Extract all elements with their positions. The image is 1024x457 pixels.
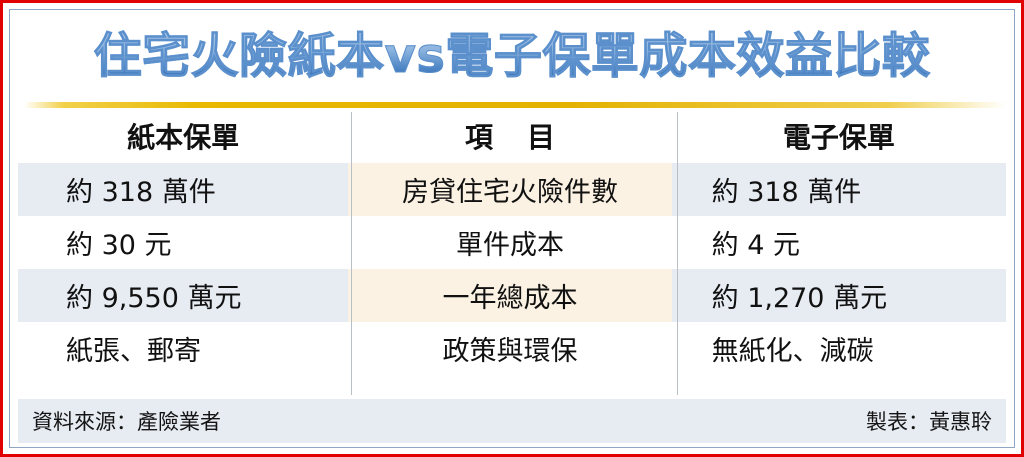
infographic-card: 住宅火險紙本vs電子保單成本效益比較 紙本保單 項 目 電子保單 約 318 萬…	[0, 0, 1024, 457]
header-cell-paper: 紙本保單	[18, 108, 348, 163]
table-header-row: 紙本保單 項 目 電子保單	[18, 108, 1006, 163]
header-cell-electronic: 電子保單	[672, 108, 1006, 163]
row1-cell-electronic: 約 4 元	[672, 216, 1006, 269]
title-area: 住宅火險紙本vs電子保單成本效益比較	[10, 10, 1014, 102]
header-cell-item: 項 目	[348, 108, 671, 163]
column-divider-right	[677, 112, 678, 395]
row1-cell-paper: 約 30 元	[18, 216, 348, 269]
source-label: 資料來源：產險業者	[32, 406, 221, 436]
row0-cell-paper: 約 318 萬件	[18, 163, 348, 216]
row0-cell-electronic: 約 318 萬件	[672, 163, 1006, 216]
row3-cell-item: 政策與環保	[348, 322, 671, 375]
table-row: 約 9,550 萬元 一年總成本 約 1,270 萬元	[18, 269, 1006, 322]
page-title: 住宅火險紙本vs電子保單成本效益比較	[94, 32, 931, 80]
row3-cell-paper: 紙張、郵寄	[18, 322, 348, 375]
footer-bar: 資料來源：產險業者 製表：黃惠聆	[18, 399, 1006, 443]
row3-cell-electronic: 無紙化、減碳	[672, 322, 1006, 375]
table-row: 約 30 元 單件成本 約 4 元	[18, 216, 1006, 269]
row2-cell-electronic: 約 1,270 萬元	[672, 269, 1006, 322]
row1-cell-item: 單件成本	[348, 216, 671, 269]
inner-frame: 住宅火險紙本vs電子保單成本效益比較 紙本保單 項 目 電子保單 約 318 萬…	[9, 9, 1015, 448]
header-item-char2: 目	[527, 116, 555, 156]
row2-cell-item: 一年總成本	[348, 269, 671, 322]
credit-label: 製表：黃惠聆	[866, 406, 992, 436]
row0-cell-item: 房貸住宅火險件數	[348, 163, 671, 216]
row2-cell-paper: 約 9,550 萬元	[18, 269, 348, 322]
comparison-table: 紙本保單 項 目 電子保單 約 318 萬件 房貸住宅火險件數 約 318 萬件…	[18, 108, 1006, 399]
table-row: 紙張、郵寄 政策與環保 無紙化、減碳	[18, 322, 1006, 375]
column-divider-left	[351, 112, 352, 395]
header-item-char1: 項	[465, 116, 493, 156]
table-row: 約 318 萬件 房貸住宅火險件數 約 318 萬件	[18, 163, 1006, 216]
